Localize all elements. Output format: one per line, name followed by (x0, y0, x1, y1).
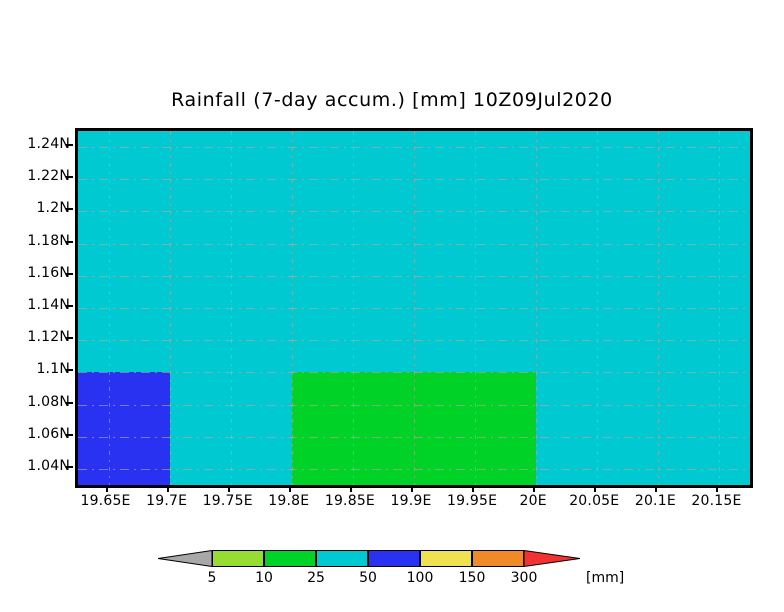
y-axis-tick-label: 1.12N (27, 329, 70, 345)
colorbar-over-arrow (524, 550, 580, 567)
colorbar-tick-label: 300 (511, 570, 538, 586)
gridline-horizontal (78, 308, 750, 309)
gridline-horizontal (78, 340, 750, 341)
x-axis-tick-label: 20.1E (635, 493, 676, 509)
gridline-horizontal (78, 372, 750, 373)
y-axis-tick-label: 1.18N (27, 233, 70, 249)
x-axis-tick (350, 485, 352, 492)
gridline-horizontal (78, 211, 750, 212)
x-axis-tick (167, 485, 169, 492)
x-axis-tick-label: 19.65E (80, 493, 130, 509)
y-axis-tick-label: 1.08N (27, 394, 70, 410)
gridline-horizontal (78, 437, 750, 438)
gridline-horizontal (78, 147, 750, 148)
colorbar-tick-label: 10 (255, 570, 273, 586)
x-axis-tick (716, 485, 718, 492)
colorbar-tick-label: 150 (459, 570, 486, 586)
colorbar-tick-label: 25 (307, 570, 325, 586)
y-axis-tick-label: 1.14N (27, 297, 70, 313)
x-axis-tick-label: 19.7E (146, 493, 187, 509)
colorbar-under-arrow (158, 550, 212, 567)
rainfall-chart-page: Rainfall (7-day accum.) [mm] 10Z09Jul202… (0, 0, 784, 612)
x-axis-tick (472, 485, 474, 492)
colorbar-segment (472, 550, 524, 567)
colorbar-segment (368, 550, 420, 567)
gridline-horizontal (78, 469, 750, 470)
y-axis-tick-label: 1.2N (36, 200, 70, 216)
x-axis-tick-label: 20.15E (691, 493, 741, 509)
y-axis-tick-label: 1.04N (27, 458, 70, 474)
colorbar-segment (316, 550, 368, 567)
plot-area[interactable] (78, 131, 750, 485)
x-axis-tick (228, 485, 230, 492)
x-axis-tick-label: 19.95E (447, 493, 497, 509)
y-axis-tick-label: 1.24N (27, 136, 70, 152)
colorbar-tick-label: 100 (407, 570, 434, 586)
x-axis-tick-label: 19.9E (390, 493, 431, 509)
colorbar-segment (420, 550, 472, 567)
x-axis-tick-label: 19.85E (325, 493, 375, 509)
x-axis-tick (655, 485, 657, 492)
colorbar-tick-label: 5 (208, 570, 217, 586)
x-axis-tick (289, 485, 291, 492)
colorbar-segment (264, 550, 316, 567)
gridline-horizontal (78, 244, 750, 245)
colorbar-tick-label: 50 (359, 570, 377, 586)
y-axis-tick-label: 1.16N (27, 265, 70, 281)
plot-frame (75, 128, 753, 488)
page-title: Rainfall (7-day accum.) [mm] 10Z09Jul202… (0, 89, 784, 111)
x-axis-tick-label: 19.75E (203, 493, 253, 509)
colorbar-legend: 5102550100150300[mm] (0, 540, 784, 600)
x-axis-tick (594, 485, 596, 492)
x-axis-tick (533, 485, 535, 492)
gridline-horizontal (78, 405, 750, 406)
colorbar-segment (212, 550, 264, 567)
y-axis-tick-label: 1.22N (27, 168, 70, 184)
y-axis-tick-label: 1.06N (27, 426, 70, 442)
x-axis-tick (411, 485, 413, 492)
x-axis-tick-label: 19.8E (268, 493, 309, 509)
x-axis-tick-label: 20.05E (569, 493, 619, 509)
x-axis-tick-label: 20E (520, 493, 547, 509)
gridline-horizontal (78, 276, 750, 277)
colorbar-unit-label: [mm] (586, 570, 624, 586)
y-axis-tick-label: 1.1N (36, 361, 70, 377)
gridline-horizontal (78, 179, 750, 180)
x-axis-tick (106, 485, 108, 492)
